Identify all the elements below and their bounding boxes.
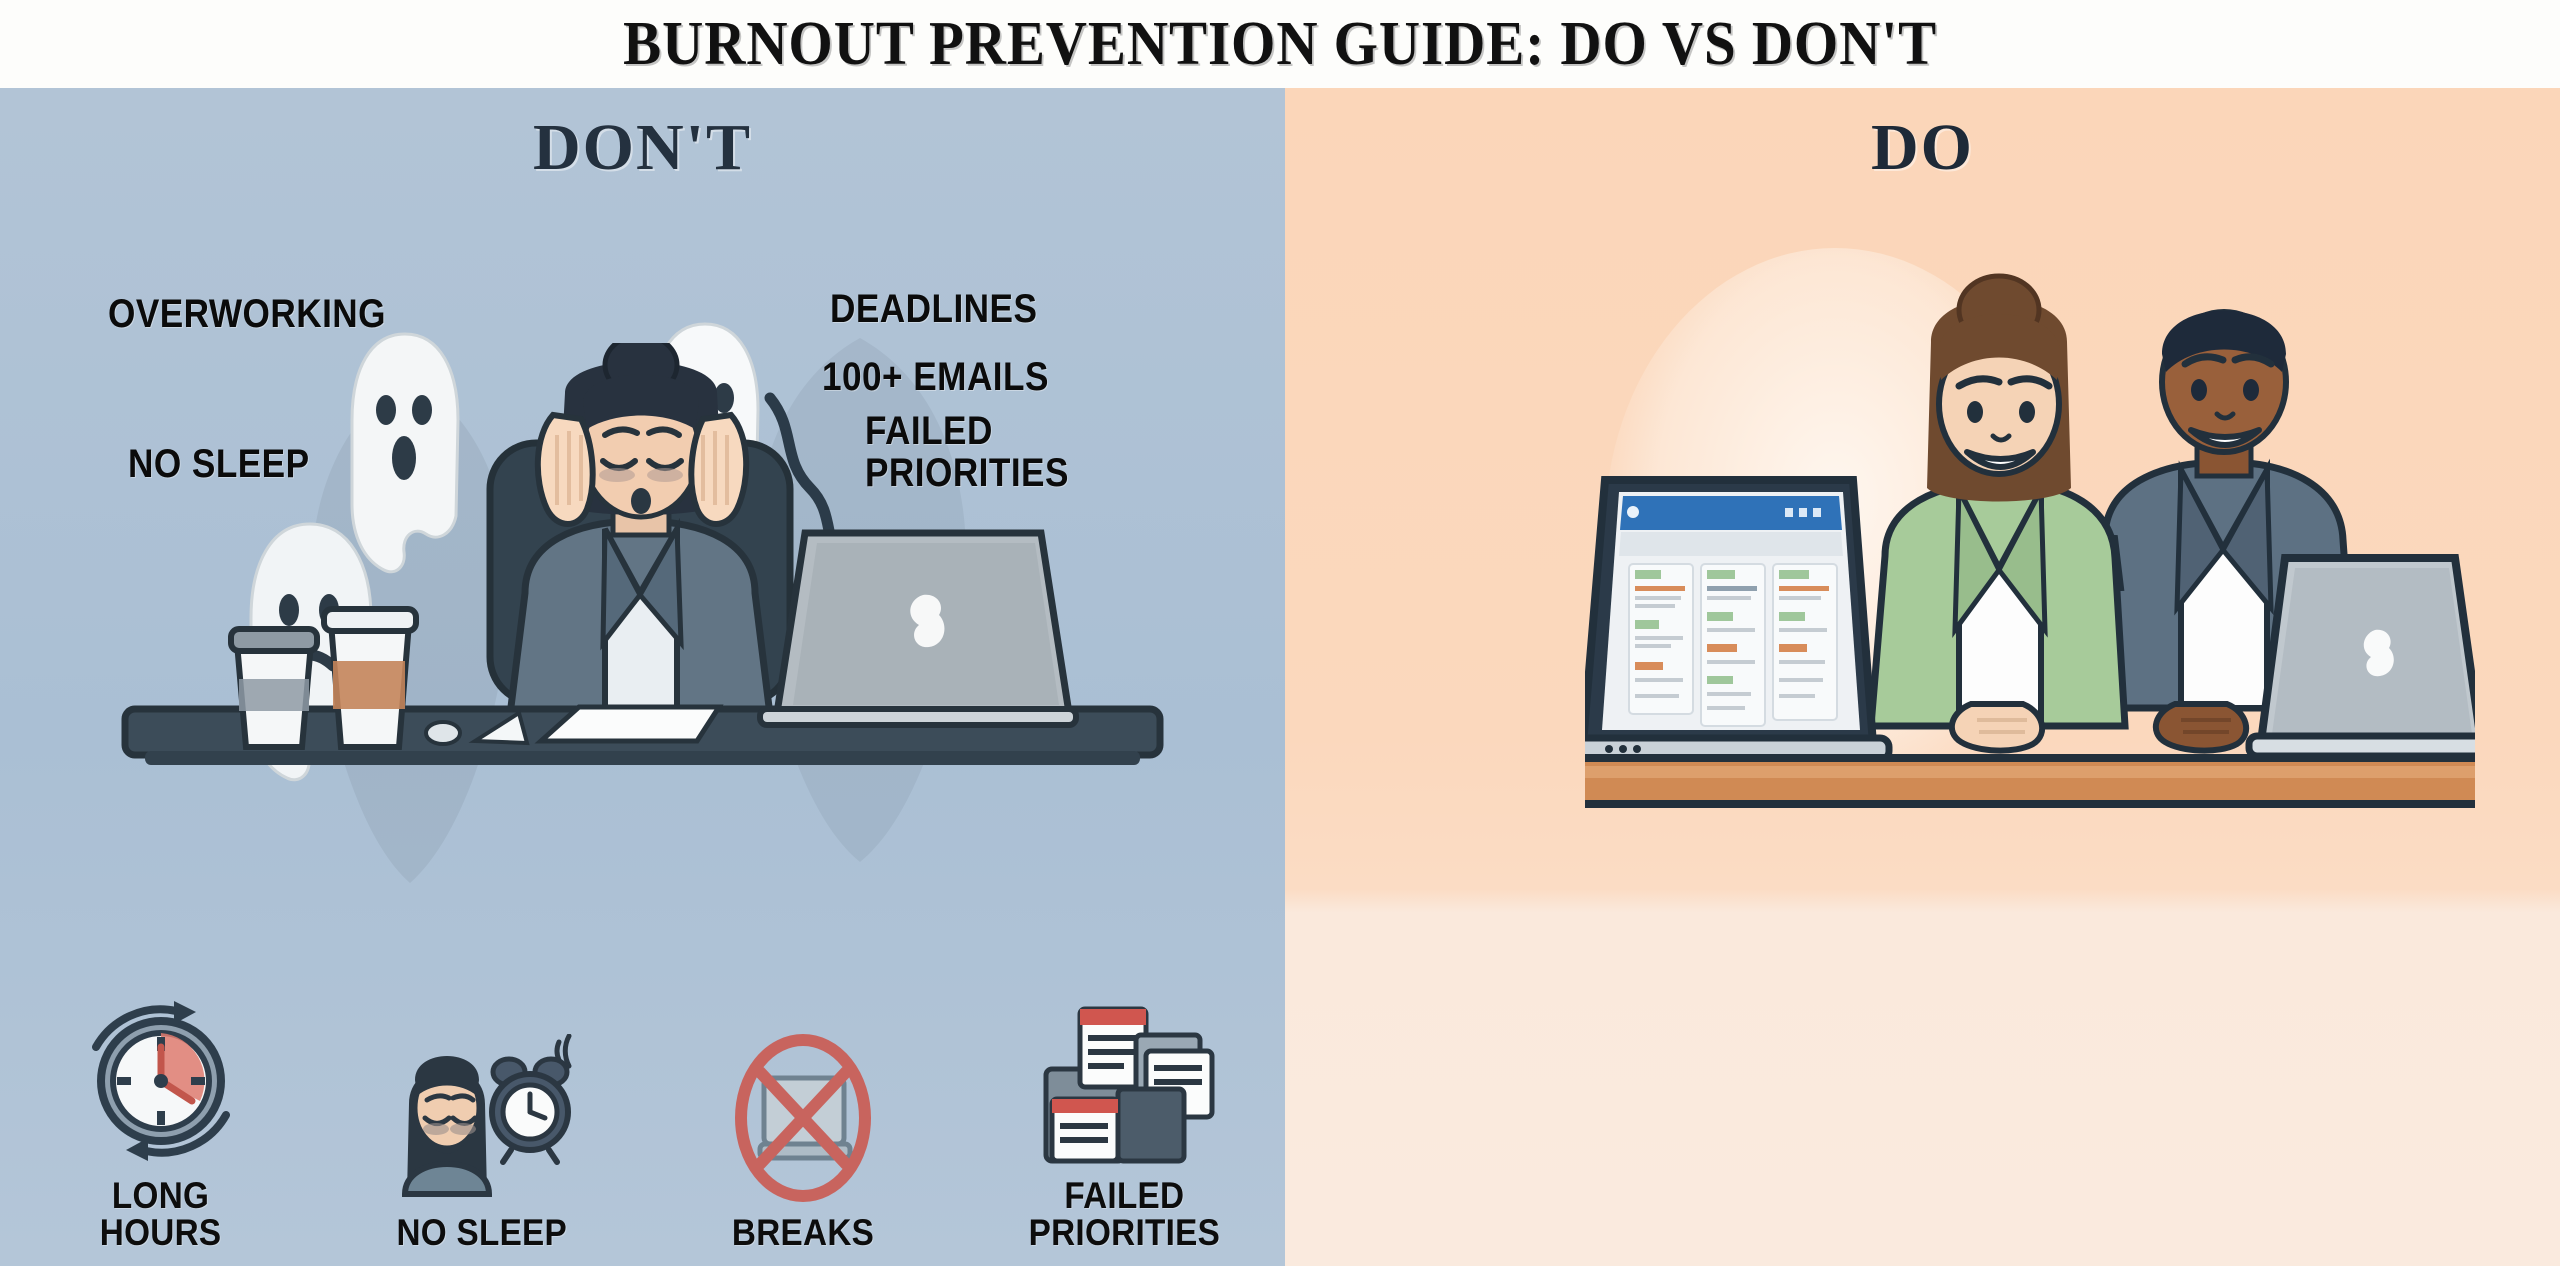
icon-caption: NO SLEEP (397, 1214, 568, 1252)
page-title: BURNOUT PREVENTION GUIDE: DO VS DON'T (623, 9, 1937, 80)
tired-person-alarm-clock-icon (387, 1027, 577, 1202)
icon-caption: BREAKS (732, 1214, 874, 1252)
icon-caption: FAILED PRIORITIES (1029, 1177, 1220, 1252)
dont-icon-failed-priorities[interactable]: FAILED PRIORITIES (1024, 990, 1224, 1252)
stacked-papers-icon (1032, 990, 1217, 1165)
icon-caption: LONG HOURS (100, 1177, 222, 1252)
clock-with-arrows-icon (76, 990, 246, 1165)
happy-colleagues-scene (1585, 238, 2475, 888)
no-breaks-crossed-out-icon (716, 1027, 891, 1202)
do-heading: DO (1285, 110, 2560, 186)
title-bar: BURNOUT PREVENTION GUIDE: DO VS DON'T (0, 0, 2560, 88)
dont-icon-no-sleep[interactable]: NO SLEEP (382, 1027, 582, 1252)
dont-panel: DON'T (0, 88, 1285, 1266)
dont-icon-long-hours[interactable]: LONG HOURS (61, 990, 261, 1252)
dont-icon-breaks[interactable]: BREAKS (703, 1027, 903, 1252)
dont-icon-row: LONG HOURS (0, 990, 1285, 1266)
stress-label-overworking: OVERWORKING (108, 293, 386, 335)
dont-heading: DON'T (0, 110, 1285, 186)
infographic-root: BURNOUT PREVENTION GUIDE: DO VS DON'T DO… (0, 0, 2560, 1266)
stress-label-deadlines: DEADLINES (830, 288, 1037, 330)
do-panel: DO TAKE BREAKS HEALTHY HABITS SOCIAL CON… (1285, 88, 2560, 1266)
stressed-woman-scene (105, 343, 1180, 813)
